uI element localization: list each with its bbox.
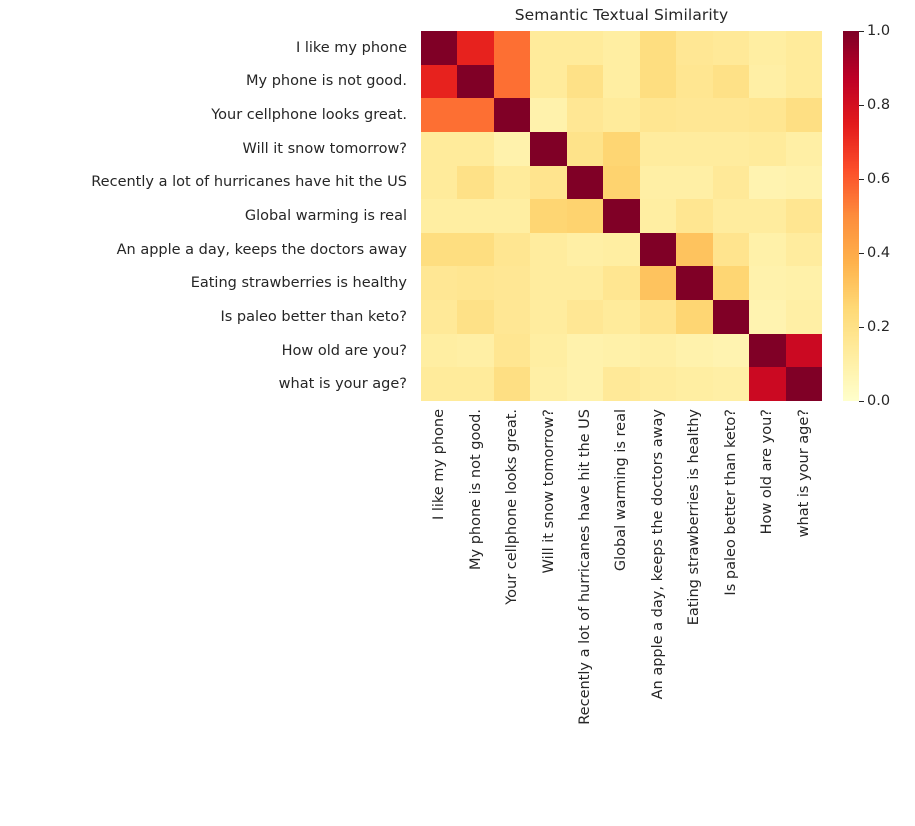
heatmap-cell bbox=[421, 300, 457, 334]
colorbar-tick-label: 0.8 bbox=[867, 97, 890, 113]
x-tick-label: Will it snow tomorrow? bbox=[541, 409, 557, 573]
heatmap-cell bbox=[457, 334, 493, 368]
colorbar: 1.00.80.60.40.20.0 bbox=[843, 31, 859, 401]
colorbar-tick bbox=[859, 327, 864, 328]
heatmap-cell bbox=[457, 300, 493, 334]
heatmap-cell bbox=[421, 199, 457, 233]
y-tick-label: I like my phone bbox=[0, 31, 414, 65]
heatmap-cell bbox=[713, 300, 749, 334]
x-tick-slot: Will it snow tomorrow? bbox=[530, 401, 566, 821]
heatmap-cell bbox=[640, 31, 676, 65]
heatmap-cell bbox=[786, 300, 822, 334]
heatmap-cell bbox=[421, 132, 457, 166]
heatmap-cell bbox=[749, 65, 785, 99]
heatmap-cell bbox=[421, 367, 457, 401]
heatmap-cell bbox=[567, 367, 603, 401]
colorbar-gradient bbox=[843, 31, 859, 401]
heatmap-cell bbox=[567, 266, 603, 300]
heatmap-cell bbox=[530, 98, 566, 132]
heatmap-cell bbox=[421, 334, 457, 368]
heatmap-grid bbox=[421, 31, 822, 401]
heatmap-cell bbox=[530, 199, 566, 233]
heatmap-cell bbox=[494, 266, 530, 300]
colorbar-tick-label: 1.0 bbox=[867, 23, 890, 39]
heatmap-cell bbox=[749, 31, 785, 65]
heatmap-cell bbox=[603, 233, 639, 267]
x-tick-label: I like my phone bbox=[431, 409, 447, 520]
y-tick-label: How old are you? bbox=[0, 334, 414, 368]
heatmap-cell bbox=[530, 300, 566, 334]
heatmap-cell bbox=[603, 166, 639, 200]
y-tick-label: Will it snow tomorrow? bbox=[0, 132, 414, 166]
colorbar-tick bbox=[859, 31, 864, 32]
heatmap-cell bbox=[749, 334, 785, 368]
x-tick-slot: Recently a lot of hurricanes have hit th… bbox=[567, 401, 603, 821]
heatmap-cell bbox=[457, 132, 493, 166]
heatmap-cell bbox=[530, 233, 566, 267]
heatmap-cell bbox=[676, 367, 712, 401]
heatmap-cell bbox=[676, 98, 712, 132]
y-tick-label: Eating strawberries is healthy bbox=[0, 266, 414, 300]
x-axis-tick-labels: I like my phoneMy phone is not good.Your… bbox=[421, 401, 822, 821]
heatmap-cell bbox=[567, 65, 603, 99]
heatmap-cell bbox=[457, 367, 493, 401]
heatmap-cell bbox=[640, 98, 676, 132]
heatmap-cell bbox=[786, 65, 822, 99]
heatmap-cell bbox=[676, 199, 712, 233]
heatmap-cell bbox=[494, 31, 530, 65]
heatmap-cell bbox=[530, 334, 566, 368]
heatmap-cell bbox=[786, 367, 822, 401]
heatmap-cell bbox=[713, 266, 749, 300]
heatmap-cell bbox=[676, 166, 712, 200]
x-tick-slot: Global warming is real bbox=[603, 401, 639, 821]
heatmap-cell bbox=[786, 199, 822, 233]
heatmap-cell bbox=[676, 233, 712, 267]
heatmap-cell bbox=[494, 300, 530, 334]
y-tick-label: what is your age? bbox=[0, 367, 414, 401]
y-tick-label: My phone is not good. bbox=[0, 65, 414, 99]
heatmap-cell bbox=[676, 334, 712, 368]
heatmap-cell bbox=[567, 31, 603, 65]
heatmap-cell bbox=[457, 266, 493, 300]
heatmap-cell bbox=[676, 132, 712, 166]
heatmap-figure: Semantic Textual Similarity I like my ph… bbox=[0, 0, 915, 826]
x-tick-label: Eating strawberries is healthy bbox=[686, 409, 702, 625]
x-tick-slot: How old are you? bbox=[749, 401, 785, 821]
y-tick-label: Is paleo better than keto? bbox=[0, 300, 414, 334]
heatmap-cell bbox=[457, 31, 493, 65]
heatmap-cell bbox=[603, 98, 639, 132]
heatmap-cell bbox=[786, 166, 822, 200]
heatmap-cell bbox=[530, 367, 566, 401]
heatmap-cell bbox=[786, 98, 822, 132]
heatmap-cell bbox=[421, 31, 457, 65]
y-tick-label: Recently a lot of hurricanes have hit th… bbox=[0, 166, 414, 200]
x-tick-label: what is your age? bbox=[796, 409, 812, 537]
heatmap-cell bbox=[640, 334, 676, 368]
heatmap-cell bbox=[494, 98, 530, 132]
heatmap-cell bbox=[494, 233, 530, 267]
heatmap-cell bbox=[640, 65, 676, 99]
heatmap-cell bbox=[786, 334, 822, 368]
x-tick-slot: I like my phone bbox=[421, 401, 457, 821]
heatmap-cell bbox=[421, 65, 457, 99]
heatmap-cell bbox=[494, 132, 530, 166]
heatmap-cell bbox=[676, 300, 712, 334]
heatmap-cell bbox=[749, 266, 785, 300]
heatmap-cell bbox=[567, 300, 603, 334]
colorbar-tick-label: 0.0 bbox=[867, 393, 890, 409]
heatmap-cell bbox=[749, 367, 785, 401]
heatmap-cell bbox=[713, 199, 749, 233]
heatmap-cell bbox=[567, 166, 603, 200]
heatmap-cell bbox=[603, 367, 639, 401]
x-tick-label: My phone is not good. bbox=[468, 409, 484, 570]
heatmap-cell bbox=[603, 132, 639, 166]
x-tick-label: Your cellphone looks great. bbox=[504, 409, 520, 605]
heatmap-cell bbox=[749, 233, 785, 267]
heatmap-cell bbox=[530, 132, 566, 166]
heatmap-cell bbox=[567, 132, 603, 166]
heatmap-cell bbox=[713, 98, 749, 132]
heatmap-cell bbox=[676, 31, 712, 65]
heatmap-cell bbox=[640, 266, 676, 300]
heatmap-cell bbox=[567, 233, 603, 267]
heatmap-cell bbox=[457, 98, 493, 132]
heatmap-cell bbox=[457, 199, 493, 233]
heatmap-cell bbox=[640, 132, 676, 166]
heatmap-cell bbox=[749, 98, 785, 132]
heatmap-cell bbox=[749, 199, 785, 233]
heatmap-cell bbox=[640, 367, 676, 401]
colorbar-tick-label: 0.2 bbox=[867, 319, 890, 335]
heatmap-cell bbox=[421, 166, 457, 200]
colorbar-tick bbox=[859, 105, 864, 106]
heatmap-cell bbox=[786, 233, 822, 267]
y-tick-label: Your cellphone looks great. bbox=[0, 98, 414, 132]
colorbar-tick-label: 0.4 bbox=[867, 245, 890, 261]
x-tick-slot: Your cellphone looks great. bbox=[494, 401, 530, 821]
heatmap-cell bbox=[640, 300, 676, 334]
colorbar-tick bbox=[859, 179, 864, 180]
heatmap-cell bbox=[494, 199, 530, 233]
heatmap-cell bbox=[713, 233, 749, 267]
heatmap-cell bbox=[603, 65, 639, 99]
heatmap-cell bbox=[713, 334, 749, 368]
y-axis-tick-labels: I like my phoneMy phone is not good.Your… bbox=[0, 31, 414, 401]
x-tick-slot: My phone is not good. bbox=[457, 401, 493, 821]
x-tick-label: Global warming is real bbox=[613, 409, 629, 571]
heatmap-cell bbox=[603, 334, 639, 368]
colorbar-tick-label: 0.6 bbox=[867, 171, 890, 187]
heatmap-cell bbox=[713, 31, 749, 65]
y-tick-label: An apple a day, keeps the doctors away bbox=[0, 233, 414, 267]
heatmap-cell bbox=[421, 233, 457, 267]
x-tick-slot: Is paleo better than keto? bbox=[713, 401, 749, 821]
x-tick-label: An apple a day, keeps the doctors away bbox=[650, 409, 666, 699]
heatmap-cell bbox=[749, 300, 785, 334]
x-tick-label: Recently a lot of hurricanes have hit th… bbox=[577, 409, 593, 725]
heatmap-cell bbox=[749, 166, 785, 200]
heatmap-cell bbox=[640, 166, 676, 200]
colorbar-tick bbox=[859, 253, 864, 254]
x-tick-slot: Eating strawberries is healthy bbox=[676, 401, 712, 821]
heatmap-cell bbox=[567, 199, 603, 233]
heatmap-cell bbox=[567, 334, 603, 368]
heatmap-cell bbox=[530, 65, 566, 99]
heatmap-cell bbox=[567, 98, 603, 132]
y-tick-label: Global warming is real bbox=[0, 199, 414, 233]
heatmap-cell bbox=[603, 199, 639, 233]
heatmap-cell bbox=[494, 367, 530, 401]
heatmap-cell bbox=[603, 266, 639, 300]
heatmap-cell bbox=[786, 31, 822, 65]
heatmap-cell bbox=[421, 266, 457, 300]
x-tick-label: How old are you? bbox=[759, 409, 775, 534]
heatmap-cell bbox=[640, 233, 676, 267]
heatmap-cell bbox=[713, 65, 749, 99]
heatmap-cell bbox=[530, 166, 566, 200]
heatmap-cell bbox=[457, 65, 493, 99]
heatmap-cell bbox=[530, 31, 566, 65]
heatmap-cell bbox=[786, 132, 822, 166]
heatmap-cell bbox=[713, 132, 749, 166]
heatmap-cell bbox=[530, 266, 566, 300]
heatmap-cell bbox=[457, 166, 493, 200]
heatmap-cell bbox=[713, 166, 749, 200]
x-tick-slot: An apple a day, keeps the doctors away bbox=[640, 401, 676, 821]
heatmap-cell bbox=[494, 65, 530, 99]
heatmap-cell bbox=[421, 98, 457, 132]
heatmap-cell bbox=[786, 266, 822, 300]
heatmap-cell bbox=[603, 31, 639, 65]
colorbar-tick bbox=[859, 401, 864, 402]
heatmap-cell bbox=[494, 166, 530, 200]
heatmap-cell bbox=[676, 65, 712, 99]
heatmap-cell bbox=[603, 300, 639, 334]
heatmap-cell bbox=[494, 334, 530, 368]
heatmap-cell bbox=[713, 367, 749, 401]
heatmap-cell bbox=[640, 199, 676, 233]
heatmap-cell bbox=[676, 266, 712, 300]
chart-title: Semantic Textual Similarity bbox=[421, 6, 822, 24]
x-tick-slot: what is your age? bbox=[786, 401, 822, 821]
heatmap-cell bbox=[749, 132, 785, 166]
heatmap-cell bbox=[457, 233, 493, 267]
x-tick-label: Is paleo better than keto? bbox=[723, 409, 739, 596]
